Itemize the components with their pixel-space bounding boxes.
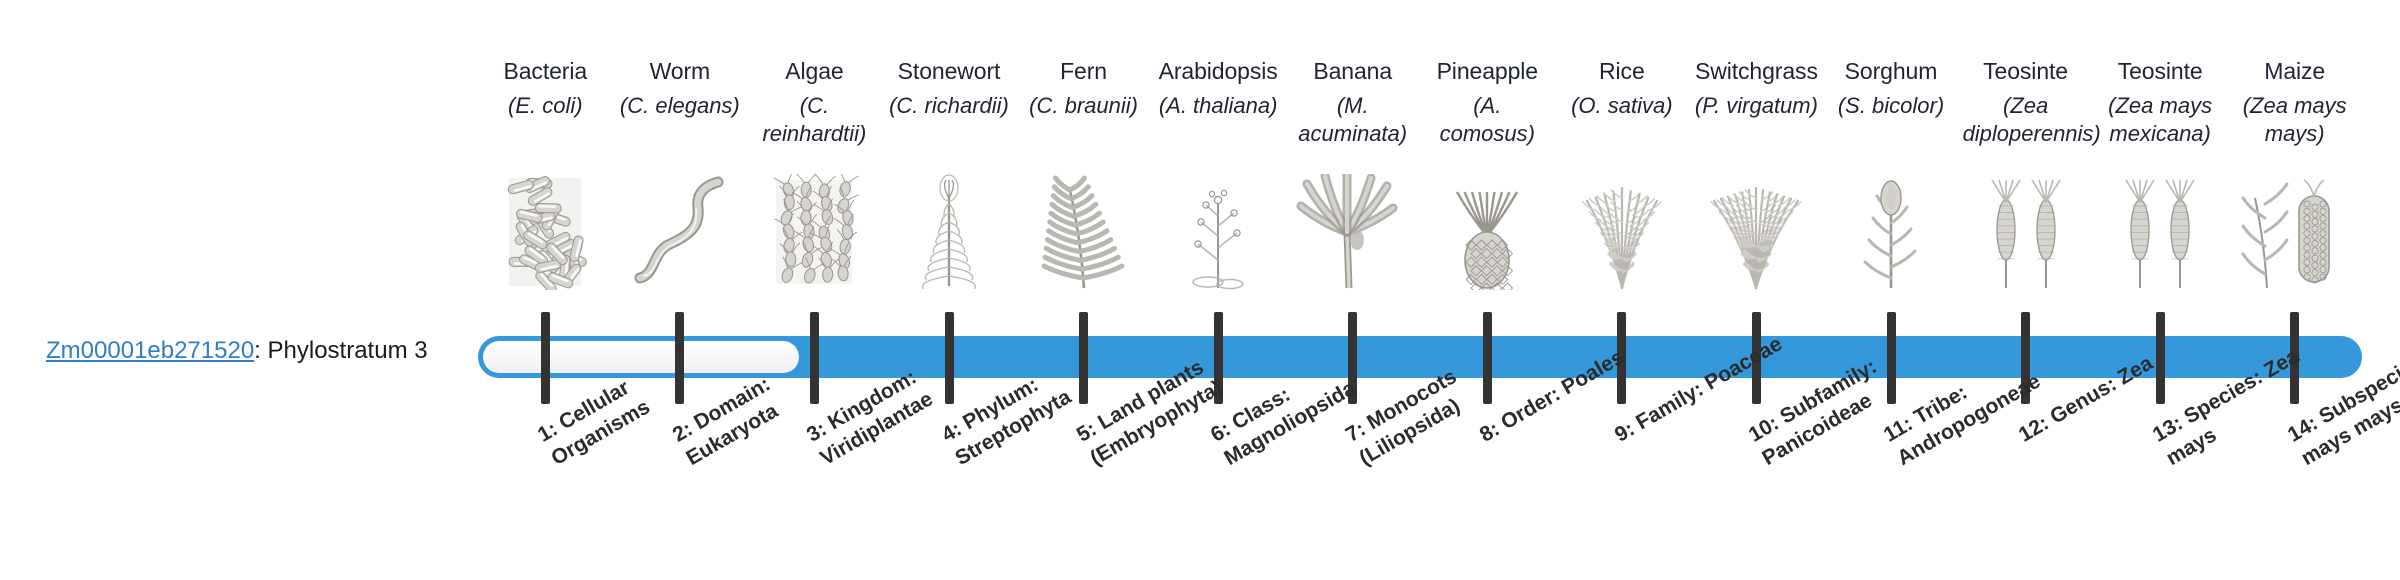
species-common-name: Fern [1017, 56, 1151, 86]
species-common-name: Worm [613, 56, 747, 86]
stratum-number: 7: [1342, 417, 1370, 446]
gene-label-separator: : [254, 337, 267, 364]
algae-cells-icon [747, 168, 881, 290]
gene-id-link[interactable]: Zm00001eb271520 [46, 337, 254, 364]
organism-illustration-1 [478, 168, 612, 290]
species-scientific-name: (Zea mays mays) [2228, 92, 2362, 148]
species-header-sorghum-11: Sorghum(S. bicolor) [1824, 56, 1958, 120]
teosinte-diplo-icon [1959, 168, 2093, 290]
organism-illustration-8 [1420, 168, 1554, 290]
switchgrass-icon [1689, 168, 1823, 290]
species-header-banana-7: Banana(M. acuminata) [1286, 56, 1420, 148]
organism-illustration-13 [2093, 168, 2227, 290]
organism-illustration-3 [747, 168, 881, 290]
species-scientific-name: (A. thaliana) [1151, 92, 1285, 120]
organism-illustration-10 [1689, 168, 1823, 290]
species-header-maize-14: Maize(Zea mays mays) [2228, 56, 2362, 148]
sorghum-icon [1824, 168, 1958, 290]
stratum-number: 6: [1207, 417, 1235, 446]
species-header-algae-3: Algae(C. reinhardtii) [747, 56, 881, 148]
arabidopsis-icon [1151, 168, 1285, 290]
species-header-arabidopsis-6: Arabidopsis(A. thaliana) [1151, 56, 1285, 120]
species-common-name: Bacteria [478, 56, 612, 86]
stratum-text: Class: Magnoliopsida [1221, 377, 1360, 470]
species-header-fern-5: Fern(C. braunii) [1017, 56, 1151, 120]
species-common-name: Algae [747, 56, 881, 86]
species-common-name: Switchgrass [1689, 56, 1823, 86]
banana-plant-icon [1286, 168, 1420, 290]
species-scientific-name: (E. coli) [478, 92, 612, 120]
species-common-name: Pineapple [1420, 56, 1554, 86]
species-scientific-name: (C. richardii) [882, 92, 1016, 120]
species-header-switchgrass-10: Switchgrass(P. virgatum) [1689, 56, 1823, 120]
species-common-name: Arabidopsis [1151, 56, 1285, 86]
stratum-number: 5: [1072, 417, 1100, 446]
organism-illustration-7 [1286, 168, 1420, 290]
pineapple-icon [1420, 168, 1554, 290]
species-scientific-name: (Zea diploperennis) [1959, 92, 2093, 148]
species-common-name: Stonewort [882, 56, 1016, 86]
species-scientific-name: (C. elegans) [613, 92, 747, 120]
stratum-number: 3: [803, 417, 831, 446]
species-scientific-name: (M. acuminata) [1286, 92, 1420, 148]
organism-illustration-14 [2228, 168, 2362, 290]
species-header-teosinte-13: Teosinte(Zea mays mexicana) [2093, 56, 2227, 148]
rice-plant-icon [1555, 168, 1689, 290]
species-common-name: Teosinte [1959, 56, 2093, 86]
species-common-name: Maize [2228, 56, 2362, 86]
stonewort-icon [882, 168, 1016, 290]
species-scientific-name: (A. comosus) [1420, 92, 1554, 148]
stratum-number: 1: [534, 417, 562, 446]
teosinte-mexicana-icon [2093, 168, 2227, 290]
species-scientific-name: (P. virgatum) [1689, 92, 1823, 120]
species-header-bacteria-1: Bacteria(E. coli) [478, 56, 612, 120]
organism-illustration-4 [882, 168, 1016, 290]
species-header-stonewort-4: Stonewort(C. richardii) [882, 56, 1016, 120]
species-scientific-name: (S. bicolor) [1824, 92, 1958, 120]
gene-phylostratum-label: Zm00001eb271520: Phylostratum 3 [46, 336, 428, 366]
organism-illustration-2 [613, 168, 747, 290]
organism-illustration-9 [1555, 168, 1689, 290]
species-header-rice-9: Rice(O. sativa) [1555, 56, 1689, 120]
species-header-worm-2: Worm(C. elegans) [613, 56, 747, 120]
species-common-name: Sorghum [1824, 56, 1958, 86]
organism-illustration-11 [1824, 168, 1958, 290]
fern-frond-icon [1017, 168, 1151, 290]
species-common-name: Banana [1286, 56, 1420, 86]
organism-illustration-5 [1017, 168, 1151, 290]
stratum-number: 2: [669, 417, 697, 446]
species-header-pineapple-8: Pineapple(A. comosus) [1420, 56, 1554, 148]
phylostratum-chart: Bacteria(E. coli)Worm(C. elegans)Algae(C… [0, 0, 2400, 580]
organism-illustration-12 [1959, 168, 2093, 290]
maize-ear-icon [2228, 168, 2362, 290]
species-scientific-name: (C. reinhardtii) [747, 92, 881, 148]
stratum-number: 9: [1611, 417, 1639, 446]
bacteria-rods-icon [478, 168, 612, 290]
species-common-name: Teosinte [2093, 56, 2227, 86]
organism-illustration-6 [1151, 168, 1285, 290]
nematode-worm-icon [613, 168, 747, 290]
stratum-text: Cellular Organisms [548, 376, 655, 470]
species-scientific-name: (Zea mays mexicana) [2093, 92, 2227, 148]
stratum-tick-1[interactable] [541, 312, 550, 404]
stratum-number: 8: [1476, 417, 1504, 446]
species-scientific-name: (C. braunii) [1017, 92, 1151, 120]
stratum-number: 12: [2014, 412, 2052, 447]
species-common-name: Rice [1555, 56, 1689, 86]
species-header-teosinte-12: Teosinte(Zea diploperennis) [1959, 56, 2093, 148]
species-scientific-name: (O. sativa) [1555, 92, 1689, 120]
stratum-number: 4: [938, 417, 966, 446]
phylostratum-value: Phylostratum 3 [268, 337, 428, 364]
